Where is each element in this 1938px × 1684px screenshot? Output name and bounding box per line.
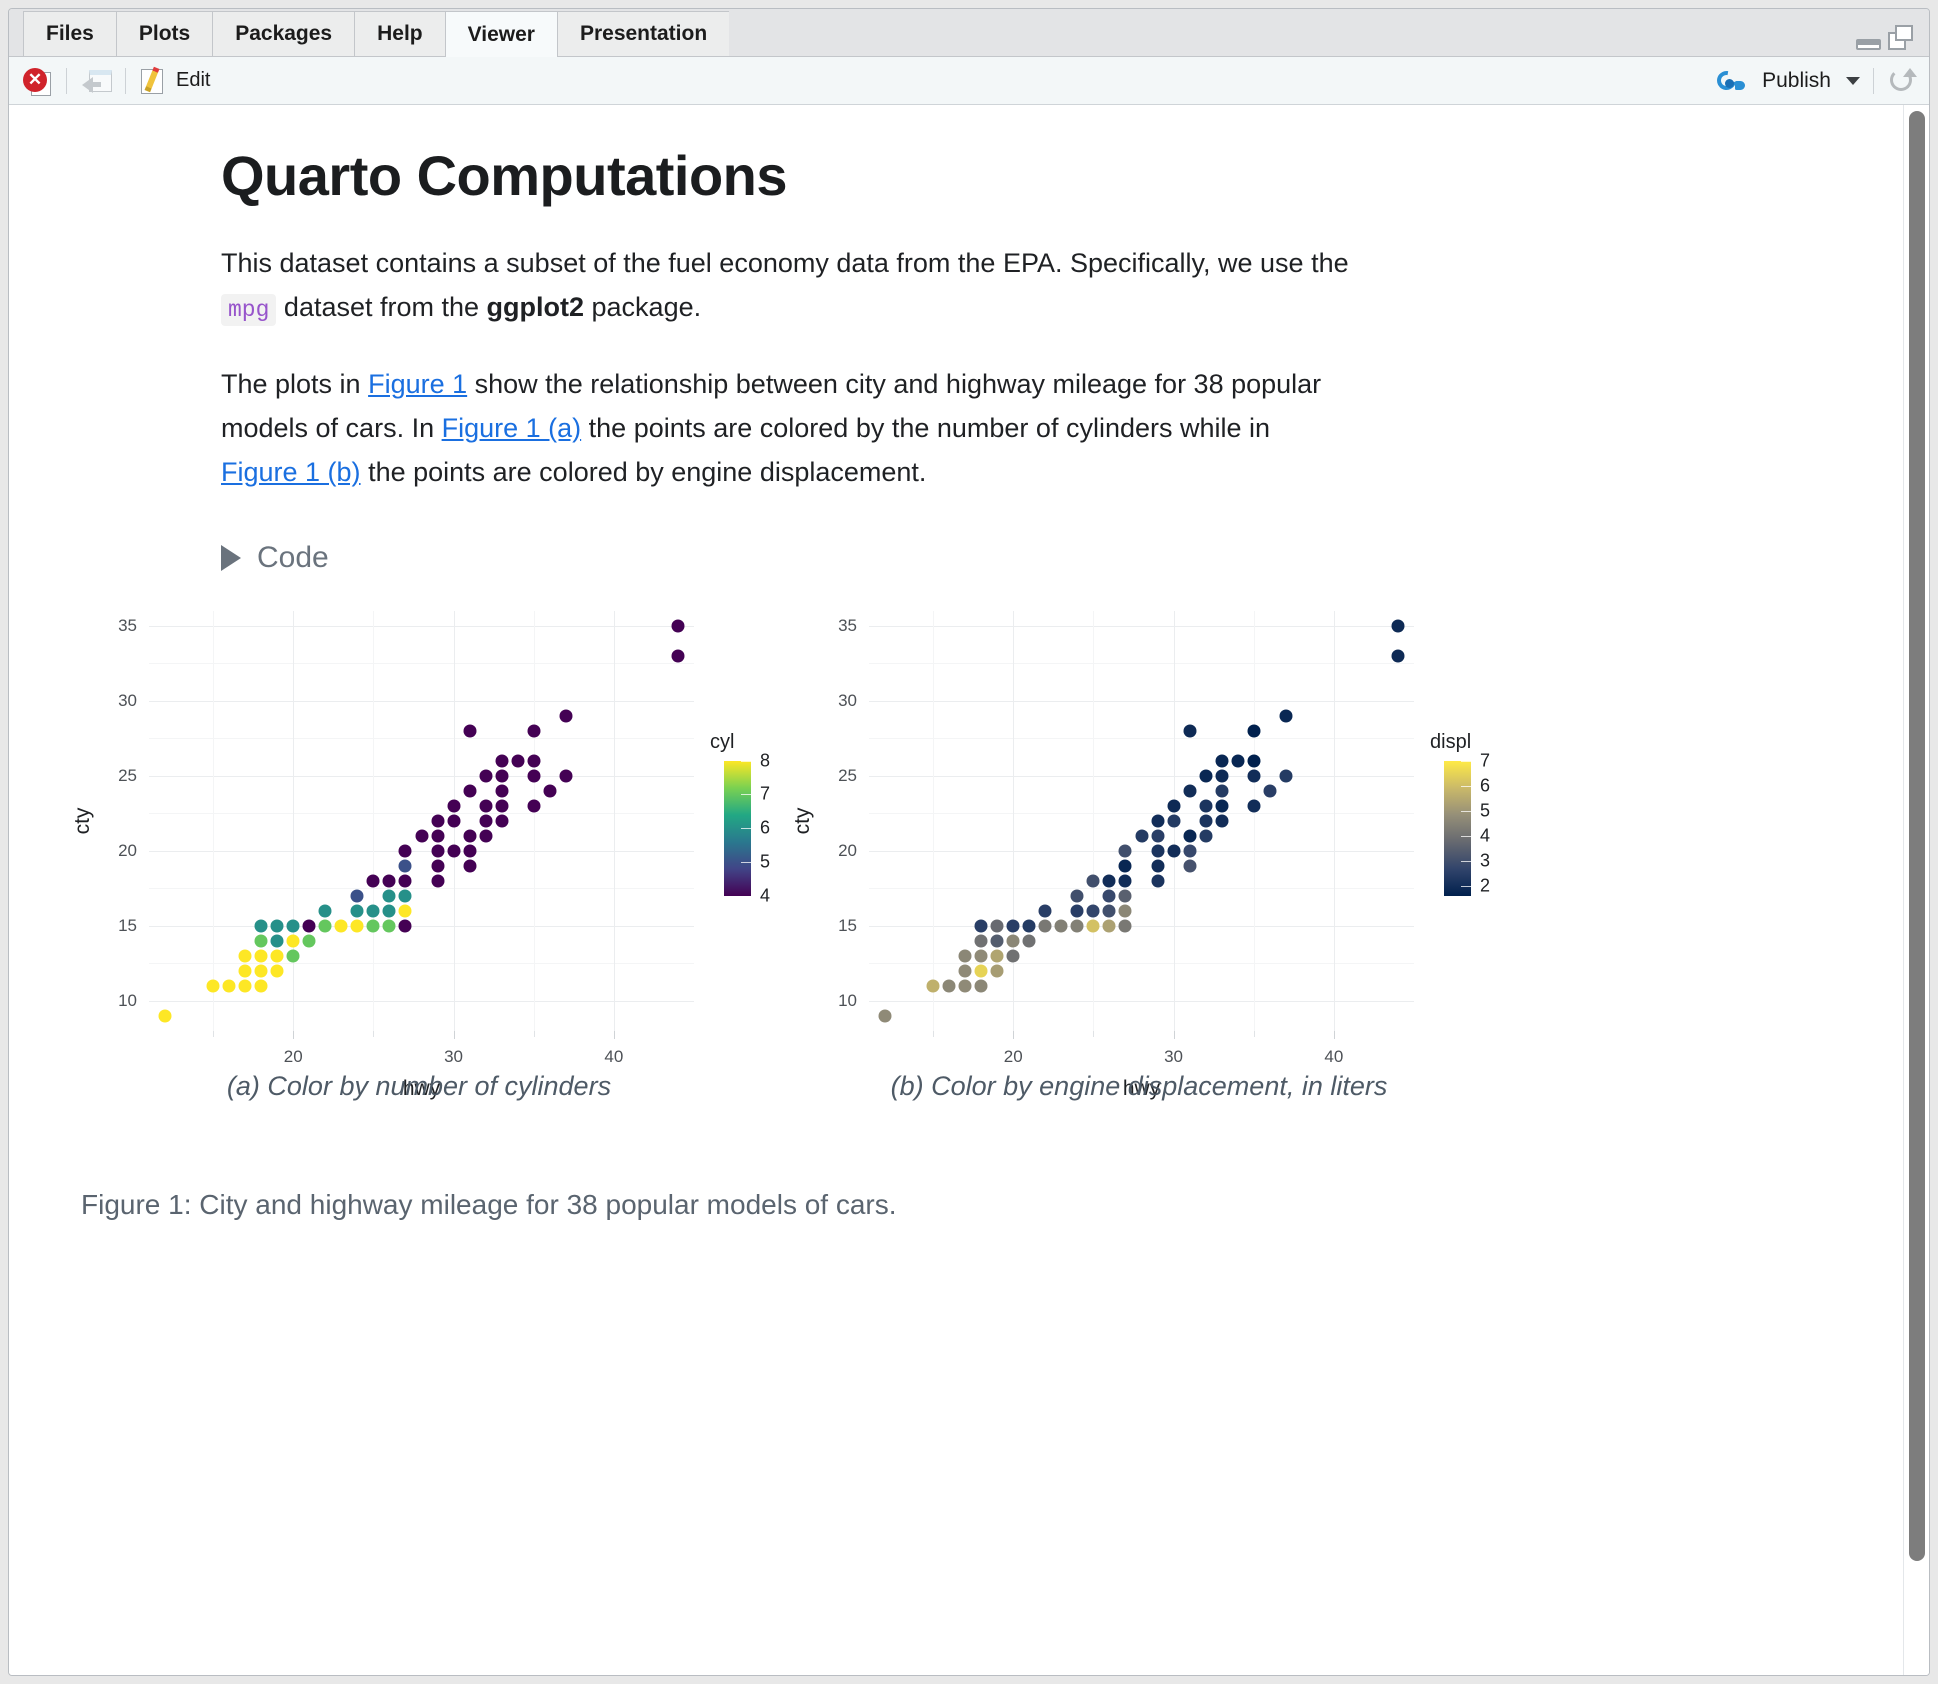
mpg-code-span: mpg [221,294,276,326]
y-axis-tick-label: 15 [838,916,857,936]
data-point [271,964,284,977]
data-point [1247,724,1260,737]
gridline-y-minor [149,888,694,889]
data-point [447,814,460,827]
y-axis-tick-label: 10 [118,991,137,1011]
data-point [959,964,972,977]
data-point [1151,844,1164,857]
data-point [527,754,540,767]
data-point [975,934,988,947]
data-point [1087,874,1100,887]
tab-help[interactable]: Help [354,11,445,56]
data-point [1039,904,1052,917]
ref-text-3: the points are colored by the number of … [581,413,1270,443]
data-point [1279,709,1292,722]
show-in-new-window-icon[interactable] [80,66,112,96]
gridline-y-minor [869,813,1414,814]
data-point [431,814,444,827]
page-title: Quarto Computations [9,105,1889,208]
data-point [1119,859,1132,872]
gridline-y-minor [149,963,694,964]
data-point [1247,799,1260,812]
data-point [239,949,252,962]
ref-text-4: the points are colored by engine displac… [361,457,927,487]
toolbar-separator [1873,68,1874,94]
data-point [1103,889,1116,902]
code-disclosure-toggle[interactable]: Code [221,541,329,575]
legend-title: cyl [710,731,734,754]
gridline-y [869,851,1414,852]
data-point [479,814,492,827]
data-point [991,919,1004,932]
data-point [1199,799,1212,812]
data-point [351,904,364,917]
data-point [1071,889,1084,902]
data-point [367,874,380,887]
gridline-y [869,626,1414,627]
gridline-y [149,926,694,927]
data-point [303,934,316,947]
data-point [943,979,956,992]
tab-viewer[interactable]: Viewer [445,11,557,57]
data-point [463,859,476,872]
data-point [479,799,492,812]
data-point [447,844,460,857]
subfigure-b: 101520253035203040hwyctydispl234567 (b) … [769,601,1509,1101]
viewer-content: Quarto Computations This dataset contain… [9,105,1929,1675]
legend-tick-label: 7 [1480,750,1490,771]
gridline-y [149,626,694,627]
legend-tick-label: 5 [1480,800,1490,821]
data-point [495,754,508,767]
y-axis-tick-label: 25 [118,766,137,786]
link-figure-1[interactable]: Figure 1 [368,369,467,399]
pane-tabstrip: Files Plots Packages Help Viewer Present… [9,9,1929,57]
edit-button-label: Edit [176,69,210,92]
data-point [1231,754,1244,767]
data-point [511,754,524,767]
minimize-icon[interactable] [1856,39,1881,50]
data-point [431,844,444,857]
gridline-y [869,776,1414,777]
data-point [1151,874,1164,887]
data-point [1199,814,1212,827]
plot-area-a: 101520253035203040hwyctycyl45678 [149,611,694,1031]
data-point [1071,919,1084,932]
data-point [1119,889,1132,902]
data-point [1215,769,1228,782]
data-point [1183,784,1196,797]
x-axis-tick-label: 30 [444,1047,463,1067]
legend-tick-label: 2 [1480,875,1490,896]
x-axis-tick-mark-minor [213,1031,214,1037]
data-point [1151,829,1164,842]
data-point [1023,934,1036,947]
gridline-y [149,1001,694,1002]
subfigure-a: 101520253035203040hwyctycyl45678 (a) Col… [49,601,789,1101]
x-axis-tick-mark-minor [534,1031,535,1037]
tab-packages[interactable]: Packages [212,11,354,56]
data-point [271,919,284,932]
edit-pencil-icon [139,66,169,96]
gridline-x [293,611,294,1031]
data-point [1087,919,1100,932]
window-controls [1856,25,1915,50]
data-point [527,724,540,737]
y-axis-tick-label: 30 [838,691,857,711]
legend-tick-mark [1461,811,1471,812]
data-point [1215,814,1228,827]
gridline-x-minor [933,611,934,1031]
gridline-y [149,776,694,777]
y-axis-tick-label: 25 [838,766,857,786]
data-point [319,904,332,917]
data-point [1247,769,1260,782]
x-axis-tick-label: 30 [1164,1047,1183,1067]
data-point [479,769,492,782]
data-point [367,919,380,932]
data-point [1279,769,1292,782]
legend-tick-label: 3 [1480,850,1490,871]
legend-tick-mark [741,794,751,795]
ref-text-1: The plots in [221,369,368,399]
x-axis-tick-mark-minor [1093,1031,1094,1037]
data-point [1183,724,1196,737]
data-point [351,919,364,932]
data-point [1055,919,1068,932]
gridline-y-minor [869,963,1414,964]
y-axis-tick-label: 10 [838,991,857,1011]
x-axis-tick-mark [1334,1031,1335,1039]
gridline-y [149,851,694,852]
legend-tick-mark [741,828,751,829]
data-point [367,904,380,917]
y-axis-tick-label: 20 [838,841,857,861]
data-point [239,964,252,977]
y-axis-tick-label: 30 [118,691,137,711]
gridline-x-minor [213,611,214,1031]
gridline-y-minor [869,738,1414,739]
data-point [463,844,476,857]
legend-tick-mark [1461,761,1471,762]
y-axis-tick-label: 35 [838,616,857,636]
data-point [447,799,460,812]
data-point [383,889,396,902]
data-point [879,1009,892,1022]
data-point [1167,844,1180,857]
data-point [287,919,300,932]
data-point [1023,919,1036,932]
x-axis-tick-label: 40 [604,1047,623,1067]
x-axis-tick-label: 20 [1004,1047,1023,1067]
chevron-down-icon[interactable] [1846,77,1860,85]
legend-colorbar [1444,761,1471,896]
subcaption-b: (b) Color by engine displacement, in lit… [769,1071,1509,1102]
data-point [1039,919,1052,932]
data-point [1135,829,1148,842]
data-point [1167,814,1180,827]
data-point [991,949,1004,962]
data-point [1167,799,1180,812]
data-point [431,859,444,872]
data-point [559,709,572,722]
data-point [559,769,572,782]
data-point [319,919,332,932]
data-point [671,619,684,632]
data-point [399,859,412,872]
x-axis-tick-mark [1013,1031,1014,1039]
x-axis-tick-label: 40 [1324,1047,1343,1067]
subcaption-a: (a) Color by number of cylinders [49,1071,789,1102]
data-point [1103,919,1116,932]
quarto-document: Quarto Computations This dataset contain… [9,105,1889,1221]
scrollbar-thumb[interactable] [1909,111,1925,1561]
data-point [479,829,492,842]
tab-plots[interactable]: Plots [116,11,212,56]
data-point [271,934,284,947]
y-axis-tick-label: 15 [118,916,137,936]
clear-viewer-icon[interactable]: ✕ [23,66,53,96]
data-point [495,799,508,812]
data-point [335,919,348,932]
gridline-y-minor [869,663,1414,664]
data-point [255,934,268,947]
figure-caption: Figure 1: City and highway mileage for 3… [81,1189,1889,1221]
data-point [383,919,396,932]
data-point [383,904,396,917]
toolbar-right-group: Publish [1716,66,1917,96]
data-point [399,919,412,932]
data-point [463,829,476,842]
data-point [399,889,412,902]
data-point [287,949,300,962]
data-point [527,799,540,812]
data-point [1119,874,1132,887]
gridline-y [869,926,1414,927]
legend-tick-label: 6 [1480,775,1490,796]
data-point [239,979,252,992]
data-point [255,979,268,992]
data-point [1007,949,1020,962]
x-axis-tick-mark [454,1031,455,1039]
y-axis-label: cty [791,807,815,834]
data-point [1119,844,1132,857]
data-point [1215,754,1228,767]
legend-title: displ [1430,731,1471,754]
gridline-y [869,701,1414,702]
x-axis-tick-mark-minor [933,1031,934,1037]
x-axis-tick-mark [293,1031,294,1039]
legend-tick-label: 4 [1480,825,1490,846]
data-point [991,964,1004,977]
data-point [399,844,412,857]
data-point [1183,859,1196,872]
data-point [1151,859,1164,872]
publish-icon [1716,69,1746,93]
gridline-x-minor [534,611,535,1031]
data-point [1087,904,1100,917]
legend-tick-mark [1461,786,1471,787]
disclosure-triangle-collapsed-icon [221,545,241,571]
data-point [431,829,444,842]
data-point [991,934,1004,947]
data-point [1391,649,1404,662]
x-axis-tick-mark [614,1031,615,1039]
gridline-y-minor [869,888,1414,889]
edit-button[interactable]: Edit [139,66,210,96]
data-point [255,949,268,962]
tab-files[interactable]: Files [23,11,116,56]
gridline-y-minor [149,663,694,664]
publish-button-label: Publish [1762,69,1831,93]
legend-tick-mark [1461,836,1471,837]
data-point [975,979,988,992]
intro-paragraph: This dataset contains a subset of the fu… [9,208,1889,329]
data-point [1215,784,1228,797]
data-point [527,769,540,782]
plot-area-b: 101520253035203040hwyctydispl234567 [869,611,1414,1031]
data-point [383,874,396,887]
gridline-x-minor [1254,611,1255,1031]
data-point [1199,769,1212,782]
gridline-x-minor [373,611,374,1031]
data-point [223,979,236,992]
data-point [463,784,476,797]
gridline-x [614,611,615,1031]
data-point [959,979,972,992]
gridline-x-minor [1093,611,1094,1031]
intro-text-2: dataset from the [276,292,486,322]
figure-reference-paragraph: The plots in Figure 1 show the relations… [9,329,1889,494]
data-point [1183,844,1196,857]
legend-tick-mark [741,761,751,762]
data-point [399,874,412,887]
data-point [463,724,476,737]
link-figure-1a[interactable]: Figure 1 (a) [442,413,582,443]
refresh-icon[interactable] [1887,66,1917,96]
data-point [255,964,268,977]
legend-tick-mark [1461,861,1471,862]
data-point [1215,799,1228,812]
data-point [1007,934,1020,947]
vertical-scrollbar[interactable] [1903,105,1929,1675]
figure-1: 101520253035203040hwyctycyl45678 (a) Col… [9,601,1889,1171]
data-point [1199,829,1212,842]
tab-presentation[interactable]: Presentation [557,11,729,56]
data-point [975,964,988,977]
gridline-x [1334,611,1335,1031]
data-point [303,919,316,932]
data-point [495,784,508,797]
data-point [1119,919,1132,932]
data-point [495,769,508,782]
maximize-icon[interactable] [1888,25,1915,50]
data-point [1119,904,1132,917]
publish-button[interactable]: Publish [1716,69,1831,93]
gridline-y [149,701,694,702]
data-point [159,1009,172,1022]
data-point [1103,904,1116,917]
data-point [207,979,220,992]
data-point [1103,874,1116,887]
data-point [287,934,300,947]
data-point [927,979,940,992]
toolbar-separator [125,68,126,94]
data-point [399,904,412,917]
x-axis-tick-mark-minor [373,1031,374,1037]
data-point [543,784,556,797]
x-axis-tick-mark [1174,1031,1175,1039]
data-point [351,889,364,902]
data-point [1007,919,1020,932]
x-axis-tick-mark-minor [1254,1031,1255,1037]
legend-tick-mark [1461,886,1471,887]
data-point [975,949,988,962]
data-point [671,649,684,662]
data-point [495,814,508,827]
gridline-x [1013,611,1014,1031]
data-point [1151,814,1164,827]
gridline-y-minor [149,813,694,814]
data-point [415,829,428,842]
data-point [975,919,988,932]
viewer-pane: Files Plots Packages Help Viewer Present… [8,8,1930,1676]
y-axis-tick-label: 20 [118,841,137,861]
gridline-y-minor [149,738,694,739]
intro-text-3: package. [584,292,701,322]
data-point [1247,754,1260,767]
ggplot2-bold: ggplot2 [487,292,584,322]
data-point [1391,619,1404,632]
data-point [959,949,972,962]
data-point [1071,904,1084,917]
intro-text-1: This dataset contains a subset of the fu… [221,248,1349,278]
y-axis-tick-label: 35 [118,616,137,636]
data-point [271,949,284,962]
x-axis-tick-label: 20 [284,1047,303,1067]
data-point [255,919,268,932]
viewer-toolbar: ✕ Edit Publish [9,57,1929,105]
gridline-y [869,1001,1414,1002]
y-axis-label: cty [71,807,95,834]
data-point [1183,829,1196,842]
data-point [431,874,444,887]
code-disclosure-label: Code [257,541,329,575]
legend-tick-mark [741,896,751,897]
data-point [1263,784,1276,797]
legend-tick-mark [741,862,751,863]
link-figure-1b[interactable]: Figure 1 (b) [221,457,361,487]
toolbar-separator [66,68,67,94]
